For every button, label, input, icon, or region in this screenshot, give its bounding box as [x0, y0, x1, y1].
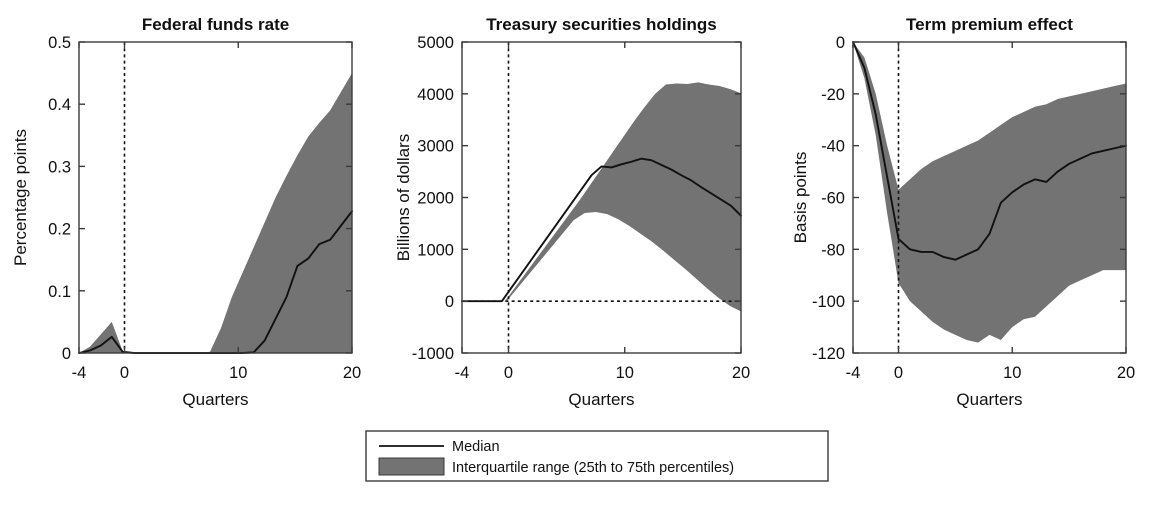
y-axis-label: Basis points [791, 152, 810, 244]
x-tick-label: 20 [343, 364, 361, 382]
y-tick-label: 4000 [417, 86, 454, 104]
panel-federal-funds-rate: 00.10.20.30.40.5-401020Federal funds rat… [11, 15, 361, 409]
y-axis-label: Billions of dollars [394, 134, 413, 262]
x-tick-label: 0 [120, 364, 129, 382]
iqr-band [853, 42, 1126, 343]
panel-title: Term premium effect [906, 15, 1073, 34]
y-tick-label: 0.3 [48, 158, 71, 176]
y-tick-label: -100 [812, 293, 845, 311]
x-tick-label: -4 [846, 364, 861, 382]
x-tick-label: 10 [616, 364, 634, 382]
y-tick-label: 0 [62, 345, 71, 363]
panel-treasury-securities-holdings: -1000010002000300040005000-401020Treasur… [394, 15, 750, 409]
x-axis-label: Quarters [568, 390, 634, 409]
y-tick-label: 0 [445, 293, 454, 311]
y-tick-label: 0.4 [48, 96, 71, 114]
iqr-band [462, 82, 741, 311]
panel-title: Federal funds rate [142, 15, 289, 34]
x-tick-label: 10 [1003, 364, 1021, 382]
x-tick-label: -4 [72, 364, 87, 382]
figure-container: 00.10.20.30.40.5-401020Federal funds rat… [0, 0, 1150, 507]
legend-label-iqr: Interquartile range (25th to 75th percen… [452, 460, 734, 476]
y-tick-label: 2000 [417, 190, 454, 208]
x-tick-label: 10 [229, 364, 247, 382]
y-tick-label: 0.1 [48, 283, 71, 301]
iqr-band [79, 73, 352, 353]
x-axis-label: Quarters [956, 390, 1022, 409]
y-tick-label: -1000 [412, 345, 454, 363]
y-tick-label: 0.5 [48, 34, 71, 52]
y-tick-label: -60 [821, 190, 845, 208]
x-axis-label: Quarters [182, 390, 248, 409]
y-tick-label: -40 [821, 138, 845, 156]
panel-title: Treasury securities holdings [486, 15, 717, 34]
y-tick-label: -80 [821, 241, 845, 259]
x-tick-label: 20 [732, 364, 750, 382]
y-axis-label: Percentage points [11, 129, 30, 266]
y-tick-label: 0 [836, 34, 845, 52]
legend: MedianInterquartile range (25th to 75th … [366, 431, 828, 481]
y-tick-label: 5000 [417, 34, 454, 52]
y-tick-label: 1000 [417, 241, 454, 259]
y-tick-label: 3000 [417, 138, 454, 156]
x-tick-label: 20 [1117, 364, 1135, 382]
multi-panel-chart: 00.10.20.30.40.5-401020Federal funds rat… [0, 0, 1150, 507]
x-tick-label: -4 [455, 364, 470, 382]
legend-iqr-patch-marker [379, 458, 444, 475]
legend-label-median: Median [452, 439, 500, 455]
x-tick-label: 0 [894, 364, 903, 382]
y-tick-label: -120 [812, 345, 845, 363]
y-tick-label: 0.2 [48, 221, 71, 239]
x-tick-label: 0 [504, 364, 513, 382]
panel-term-premium-effect: -120-100-80-60-40-200-401020Term premium… [791, 15, 1135, 409]
y-tick-label: -20 [821, 86, 845, 104]
